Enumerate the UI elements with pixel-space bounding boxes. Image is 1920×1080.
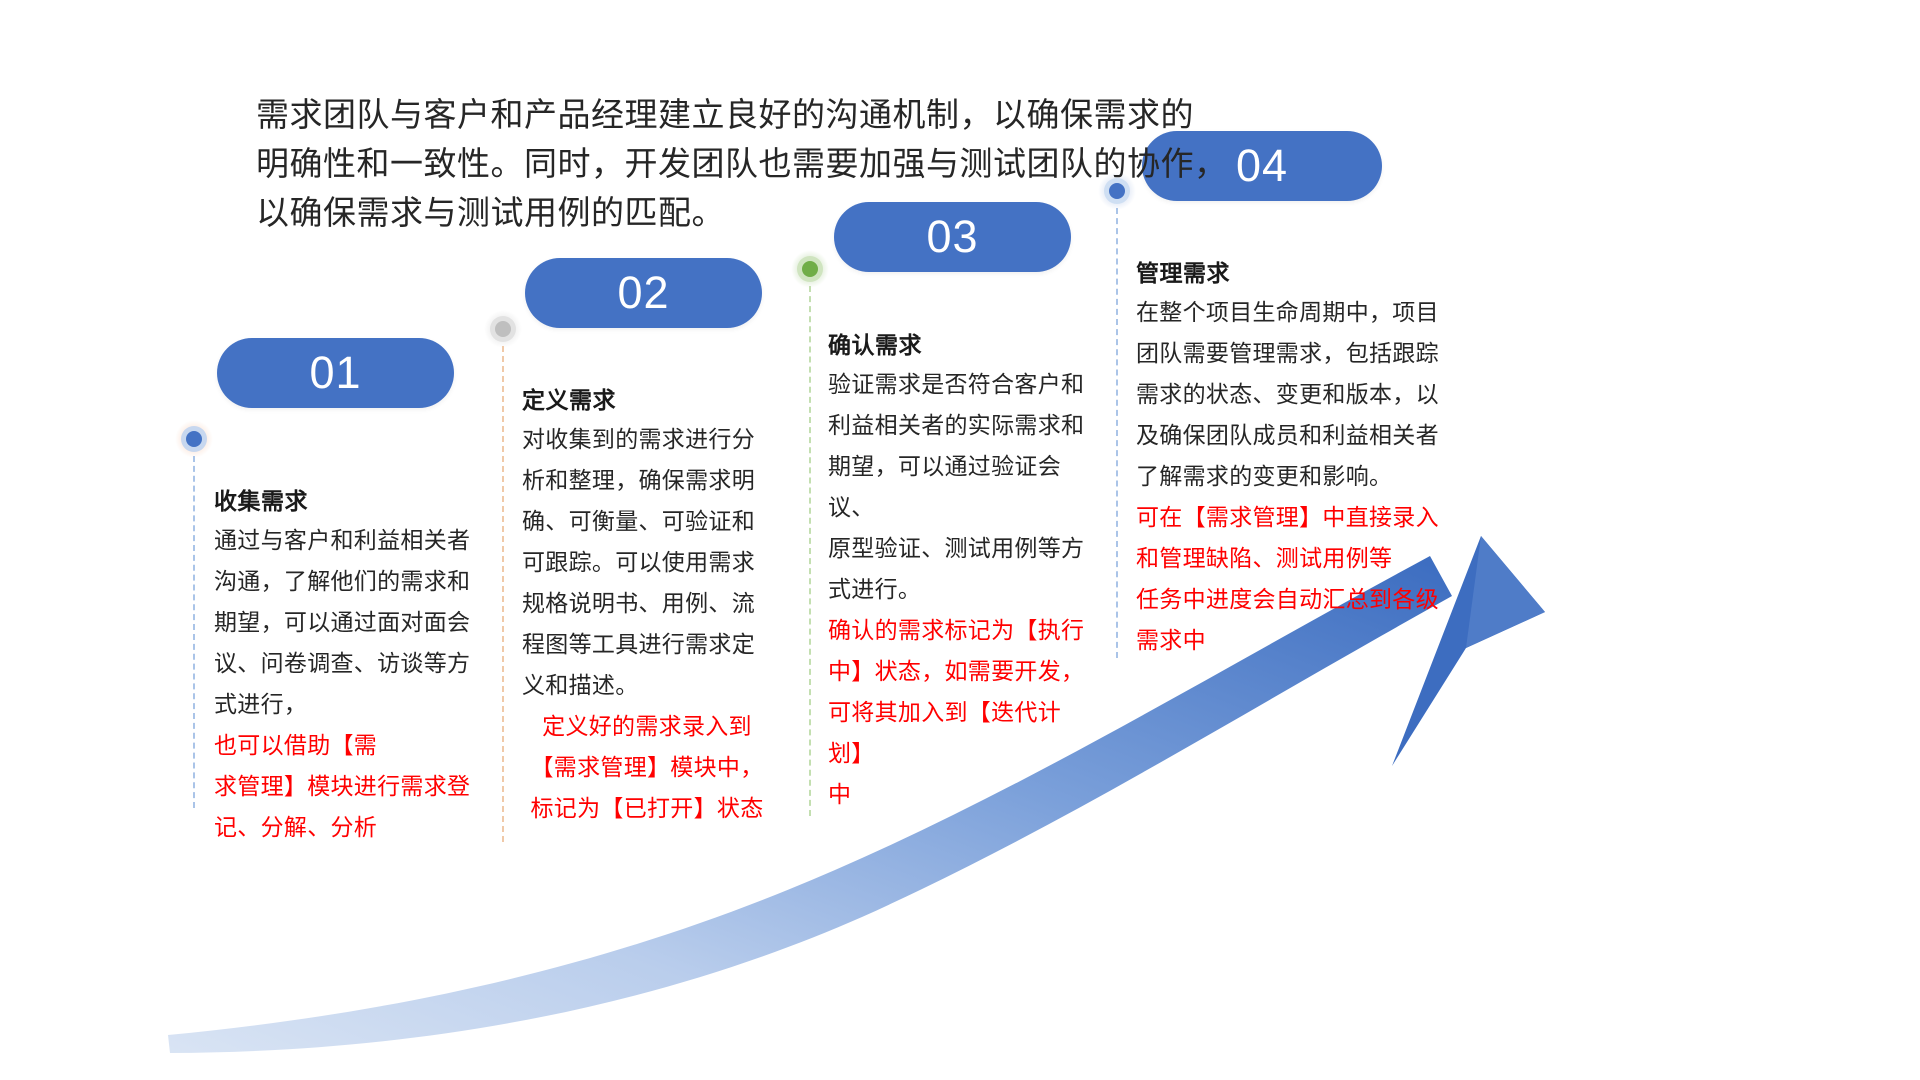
dot-core-icon [495,321,511,337]
step-number-01: 01 [309,347,361,399]
connector-line-01 [193,456,195,808]
step-badge-02[interactable]: 02 [525,258,762,328]
dot-core-icon [802,261,818,277]
step-red-02: 定义好的需求录入到 【需求管理】模块中， 标记为【已打开】状态 [522,706,772,829]
step-text-04: 管理需求 在整个项目生命周期中，项目 团队需要管理需求，包括跟踪 需求的状态、变… [1136,256,1466,661]
step-text-01: 收集需求 通过与客户和利益相关者 沟通，了解他们的需求和 期望，可以通过面对面会… [214,484,476,848]
step-title-04: 管理需求 [1136,256,1466,290]
step-red-03: 确认的需求标记为【执行 中】状态，如需要开发， 可将其加入到【迭代计划】 中 [828,610,1104,815]
connector-line-04 [1116,208,1118,658]
connector-line-02 [502,346,504,842]
step-body-01: 通过与客户和利益相关者 沟通，了解他们的需求和 期望，可以通过面对面会 议、问卷… [214,520,476,725]
step-body-02: 对收集到的需求进行分 析和整理，确保需求明 确、可衡量、可验证和 可跟踪。可以使… [522,419,772,706]
step-number-02: 02 [617,267,669,319]
step-body-03: 验证需求是否符合客户和 利益相关者的实际需求和 期望，可以通过验证会议、 原型验… [828,364,1104,610]
connector-line-03 [809,286,811,816]
step-red-04: 可在【需求管理】中直接录入 和管理缺陷、测试用例等 任务中进度会自动汇总到各级 … [1136,497,1466,661]
step-title-02: 定义需求 [522,383,772,417]
step-title-01: 收集需求 [214,484,476,518]
step-text-03: 确认需求 验证需求是否符合客户和 利益相关者的实际需求和 期望，可以通过验证会议… [828,328,1104,815]
infographic-canvas: 需求团队与客户和产品经理建立良好的沟通机制，以确保需求的 明确性和一致性。同时，… [0,0,1920,1080]
step-text-02: 定义需求 对收集到的需求进行分 析和整理，确保需求明 确、可衡量、可验证和 可跟… [522,383,772,829]
step-body-04: 在整个项目生命周期中，项目 团队需要管理需求，包括跟踪 需求的状态、变更和版本，… [1136,292,1466,497]
step-badge-01[interactable]: 01 [217,338,454,408]
header-paragraph: 需求团队与客户和产品经理建立良好的沟通机制，以确保需求的 明确性和一致性。同时，… [256,90,1316,237]
dot-core-icon [186,431,202,447]
step-red-01: 也可以借助【需 求管理】模块进行需求登 记、分解、分析 [214,725,476,848]
step-title-03: 确认需求 [828,328,1104,362]
